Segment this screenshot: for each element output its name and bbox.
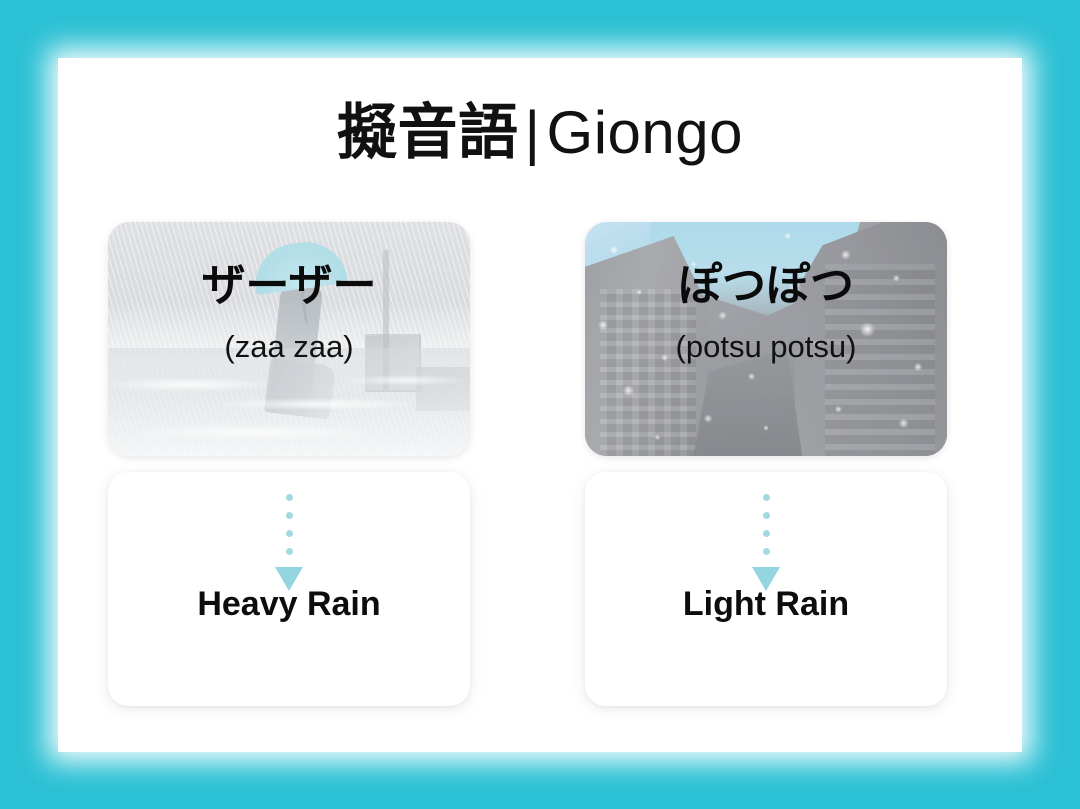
meaning-card-heavy-rain[interactable]: Heavy Rain bbox=[108, 472, 470, 706]
content-panel: 擬音語|Giongo ザーザー bbox=[58, 58, 1022, 752]
onomatopoeia-romaji: (potsu potsu) bbox=[585, 328, 947, 366]
down-arrow-icon bbox=[756, 494, 776, 591]
meaning-label: Heavy Rain bbox=[108, 582, 470, 626]
onomatopoeia-label-zaa-zaa: ザーザー (zaa zaa) bbox=[108, 258, 470, 366]
down-arrow-icon bbox=[279, 494, 299, 591]
meaning-card-light-rain[interactable]: Light Rain bbox=[585, 472, 947, 706]
title-separator: | bbox=[518, 99, 546, 166]
arrow-dot bbox=[286, 548, 293, 555]
title-romaji: Giongo bbox=[547, 99, 743, 166]
meaning-label: Light Rain bbox=[585, 582, 947, 626]
onomatopoeia-label-potsu-potsu: ぽつぽつ (potsu potsu) bbox=[585, 258, 947, 366]
arrow-dot bbox=[286, 530, 293, 537]
image-card-zaa-zaa[interactable]: ザーザー (zaa zaa) bbox=[108, 222, 470, 456]
arrow-dot bbox=[763, 494, 770, 501]
arrow-dot bbox=[286, 494, 293, 501]
onomatopoeia-romaji: (zaa zaa) bbox=[108, 328, 470, 366]
arrow-dot bbox=[286, 512, 293, 519]
slide-background: 擬音語|Giongo ザーザー bbox=[0, 0, 1080, 809]
column-potsu-potsu: ぽつぽつ (potsu potsu) Light Rain bbox=[585, 222, 947, 456]
arrow-dot bbox=[763, 512, 770, 519]
title-japanese: 擬音語 bbox=[337, 99, 519, 166]
arrow-dot bbox=[763, 548, 770, 555]
page-title: 擬音語|Giongo bbox=[58, 94, 1022, 172]
column-zaa-zaa: ザーザー (zaa zaa) Heavy Rain bbox=[108, 222, 470, 456]
onomatopoeia-kana: ぽつぽつ bbox=[585, 258, 947, 314]
arrow-dot bbox=[763, 530, 770, 537]
onomatopoeia-kana: ザーザー bbox=[108, 258, 470, 314]
image-card-potsu-potsu[interactable]: ぽつぽつ (potsu potsu) bbox=[585, 222, 947, 456]
